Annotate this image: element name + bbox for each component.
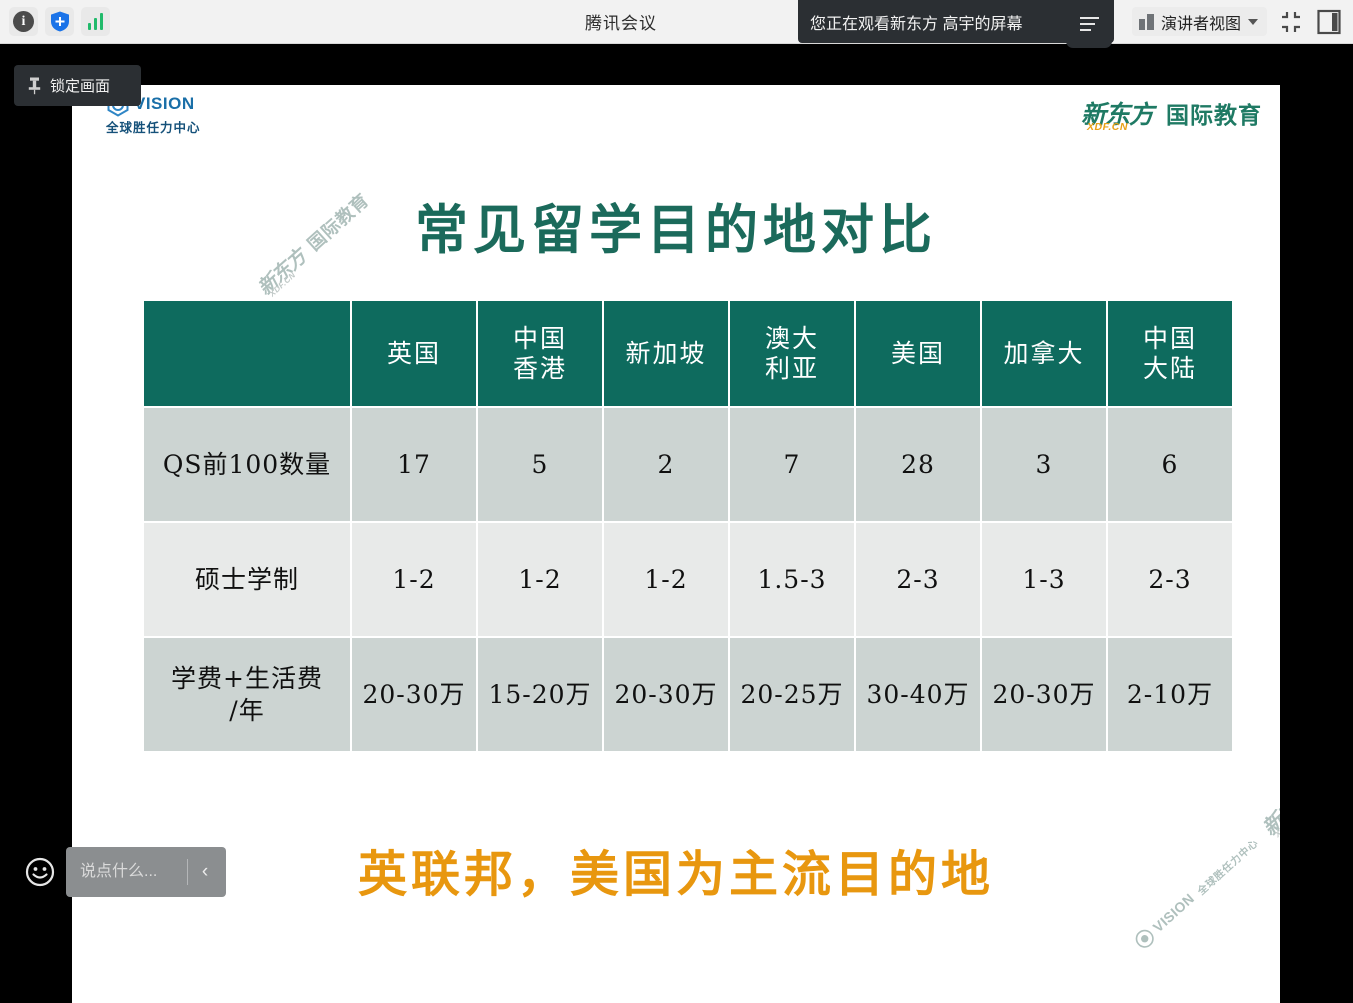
row-label-master-duration: 硕士学制 — [144, 523, 350, 636]
cell-qs-singapore: 2 — [604, 408, 728, 521]
cell-cost-mainland-china: 2-10万 — [1108, 638, 1232, 751]
table-header-australia: 澳大利亚 — [730, 301, 854, 406]
toolbar-right-group: 演讲者视图 — [1132, 7, 1353, 37]
chat-input[interactable] — [66, 847, 187, 897]
xdf-brand-url: XDF.CN — [268, 270, 298, 298]
chat-collapse-button[interactable]: ‹ — [188, 848, 222, 896]
slide-footer-text: 英联邦，美国为主流目的地 — [72, 835, 1280, 906]
table-header-row: 英国 中国香港 新加坡 澳大利亚 美国 加拿大 中国大陆 — [144, 301, 1232, 406]
cell-qs-canada: 3 — [982, 408, 1106, 521]
presentation-slide: 新东方 XDF.CN 国际教育 VISION — [72, 85, 1280, 1003]
table-row: 学费+生活费/年 20-30万 15-20万 20-30万 20-25万 30-… — [144, 638, 1232, 751]
vision-name: VISION — [134, 95, 195, 113]
vision-mark-icon — [1132, 926, 1157, 951]
slide-logo-xdf: 新东方 XDF.CN 国际教育 — [1081, 95, 1262, 131]
view-mode-label: 演讲者视图 — [1161, 10, 1241, 34]
cell-master-mainland-china: 2-3 — [1108, 523, 1232, 636]
cell-cost-uk: 20-30万 — [352, 638, 476, 751]
network-signal-icon — [88, 13, 104, 30]
smiley-icon — [25, 857, 55, 887]
cell-qs-hongkong: 5 — [478, 408, 602, 521]
network-status-button[interactable] — [81, 7, 110, 36]
cell-cost-hongkong: 15-20万 — [478, 638, 602, 751]
cell-qs-mainland-china: 6 — [1108, 408, 1232, 521]
layout-icon — [1139, 14, 1154, 30]
cell-master-uk: 1-2 — [352, 523, 476, 636]
cell-cost-canada: 20-30万 — [982, 638, 1106, 751]
xdf-brand-cn-2: 新东方 — [1258, 784, 1280, 841]
shared-screen-stage: 锁定画面 新东方 XDF.CN 国际教育 — [0, 43, 1353, 1003]
table-header-mainland-china: 中国大陆 — [1108, 301, 1232, 406]
meeting-toolbar: i 腾讯会议 演讲者视图 — [0, 0, 1353, 44]
cell-qs-usa: 28 — [856, 408, 980, 521]
comparison-table: 英国 中国香港 新加坡 澳大利亚 美国 加拿大 中国大陆 QS前100数量 17… — [142, 299, 1234, 753]
security-button[interactable] — [45, 7, 74, 36]
table-header-hongkong: 中国香港 — [478, 301, 602, 406]
info-icon: i — [13, 11, 34, 32]
xdf-watermark-logo-2: 新东方 XDF.CN 国际教育 — [1255, 720, 1280, 841]
slide-title: 常见留学目的地对比 — [72, 188, 1280, 264]
table-row: QS前100数量 17 5 2 7 28 3 6 — [144, 408, 1232, 521]
chat-input-wrapper[interactable]: ‹ — [66, 847, 226, 897]
cell-cost-australia: 20-25万 — [730, 638, 854, 751]
side-panel-button[interactable] — [1315, 7, 1343, 37]
table-body: QS前100数量 17 5 2 7 28 3 6 硕士学制 1-2 1-2 1-… — [144, 408, 1232, 751]
shield-add-icon — [50, 11, 70, 32]
row-label-qs-top100: QS前100数量 — [144, 408, 350, 521]
table-row: 硕士学制 1-2 1-2 1-2 1.5-3 2-3 1-3 2-3 — [144, 523, 1232, 636]
table-header-uk: 英国 — [352, 301, 476, 406]
info-button[interactable]: i — [9, 7, 38, 36]
table-header: 英国 中国香港 新加坡 澳大利亚 美国 加拿大 中国大陆 — [144, 301, 1232, 406]
vision-subtitle: 全球胜任力中心 — [106, 117, 201, 136]
row-label-cost-per-year: 学费+生活费/年 — [144, 638, 350, 751]
table-header-singapore: 新加坡 — [604, 301, 728, 406]
pin-icon — [27, 76, 42, 95]
table-header-corner — [144, 301, 350, 406]
cell-cost-usa: 30-40万 — [856, 638, 980, 751]
table-header-usa: 美国 — [856, 301, 980, 406]
lock-screen-label: 锁定画面 — [50, 75, 110, 96]
chevron-down-icon — [1248, 19, 1258, 25]
cell-master-singapore: 1-2 — [604, 523, 728, 636]
watching-screen-text: 您正在观看新东方 高宇的屏幕 — [810, 10, 1022, 34]
xdf-edu-name: 国际教育 — [1166, 96, 1262, 130]
cell-master-canada: 1-3 — [982, 523, 1106, 636]
cell-master-australia: 1.5-3 — [730, 523, 854, 636]
cell-qs-uk: 17 — [352, 408, 476, 521]
lock-screen-button[interactable]: 锁定画面 — [14, 65, 141, 106]
xdf-url-name: XDF.CN — [1087, 121, 1128, 133]
hamburger-menu-icon — [1080, 17, 1099, 32]
view-mode-button[interactable]: 演讲者视图 — [1132, 7, 1267, 36]
toolbar-left-group: i — [0, 7, 110, 36]
cell-master-usa: 2-3 — [856, 523, 980, 636]
cell-qs-australia: 7 — [730, 408, 854, 521]
cell-master-hongkong: 1-2 — [478, 523, 602, 636]
more-menu-button[interactable] — [1066, 0, 1112, 48]
chat-widget: ‹ — [14, 847, 226, 897]
meeting-title: 腾讯会议 — [585, 9, 657, 34]
emoji-button[interactable] — [14, 847, 66, 897]
table-header-canada: 加拿大 — [982, 301, 1106, 406]
exit-fullscreen-button[interactable] — [1276, 7, 1306, 37]
cell-cost-singapore: 20-30万 — [604, 638, 728, 751]
